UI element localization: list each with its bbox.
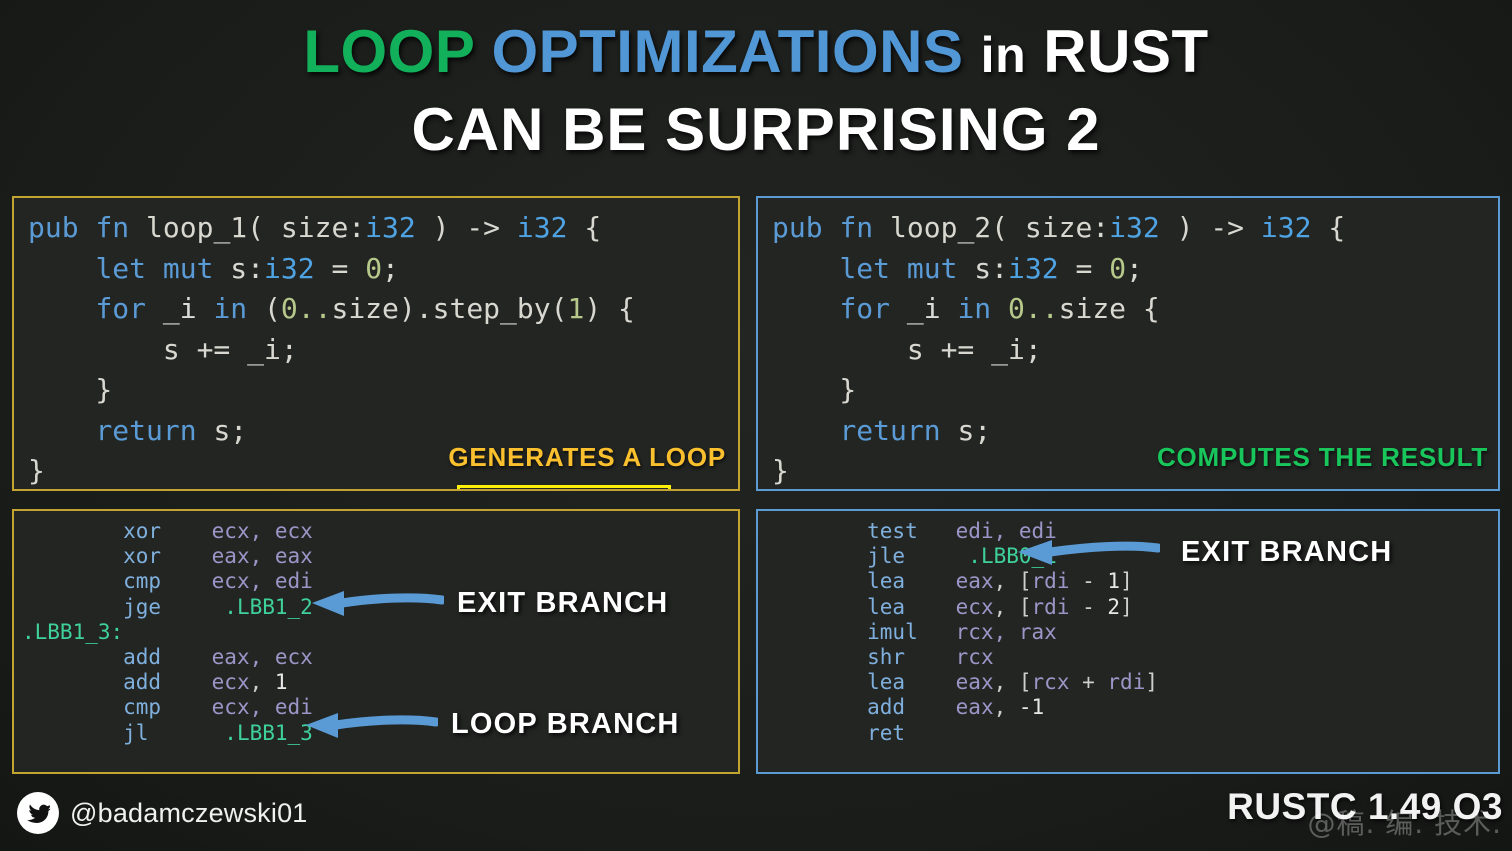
assembly-block-loop-1: xor ecx, ecx xor eax, eax cmp ecx, edi j… <box>22 519 313 746</box>
title-word-loop: LOOP <box>303 18 474 85</box>
title-line-1: LOOP OPTIMIZATIONS in RUST <box>0 14 1512 93</box>
annotation-exit-branch-left: EXIT BRANCH <box>457 587 668 620</box>
code-panel-loop-1: pub fn loop_1( size:i32 ) -> i32 { let m… <box>12 196 740 491</box>
twitter-handle: @badamczewski01 <box>70 798 308 829</box>
page-title: LOOP OPTIMIZATIONS in RUST CAN BE SURPRI… <box>0 14 1512 167</box>
annotation-loop-branch-left: LOOP BRANCH <box>451 708 680 741</box>
title-word-in: in <box>981 27 1026 83</box>
title-line-2: CAN BE SURPRISING 2 <box>0 93 1512 167</box>
slide-root: LOOP OPTIMIZATIONS in RUST CAN BE SURPRI… <box>0 0 1512 851</box>
title-word-optimizations: OPTIMIZATIONS <box>491 18 963 85</box>
title-word-rust: RUST <box>1043 18 1208 85</box>
exit-branch-arrow-right <box>1010 538 1160 568</box>
twitter-bird-icon <box>17 792 59 834</box>
assembly-panel-loop-1: xor ecx, ecx xor eax, eax cmp ecx, edi j… <box>12 509 740 774</box>
exit-branch-arrow-left <box>304 589 444 619</box>
caption-computes-the-result: COMPUTES THE RESULT <box>1157 442 1488 473</box>
assembly-panel-loop-2: test edi, edi jle .LBB0_1 lea eax, [rdi … <box>756 509 1500 774</box>
watermark-text: @稿. 编. 技术. <box>1307 802 1502 842</box>
caption-generates-a-loop: GENERATES A LOOP <box>448 442 726 473</box>
code-panel-loop-2: pub fn loop_2( size:i32 ) -> i32 { let m… <box>756 196 1500 491</box>
annotation-exit-branch-right: EXIT BRANCH <box>1181 536 1392 569</box>
footer: @badamczewski01 RUSTC 1.49 O3 @稿. 编. 技术. <box>0 774 1512 851</box>
twitter-badge[interactable]: @badamczewski01 <box>17 792 308 834</box>
loop-branch-arrow-left <box>298 711 438 741</box>
